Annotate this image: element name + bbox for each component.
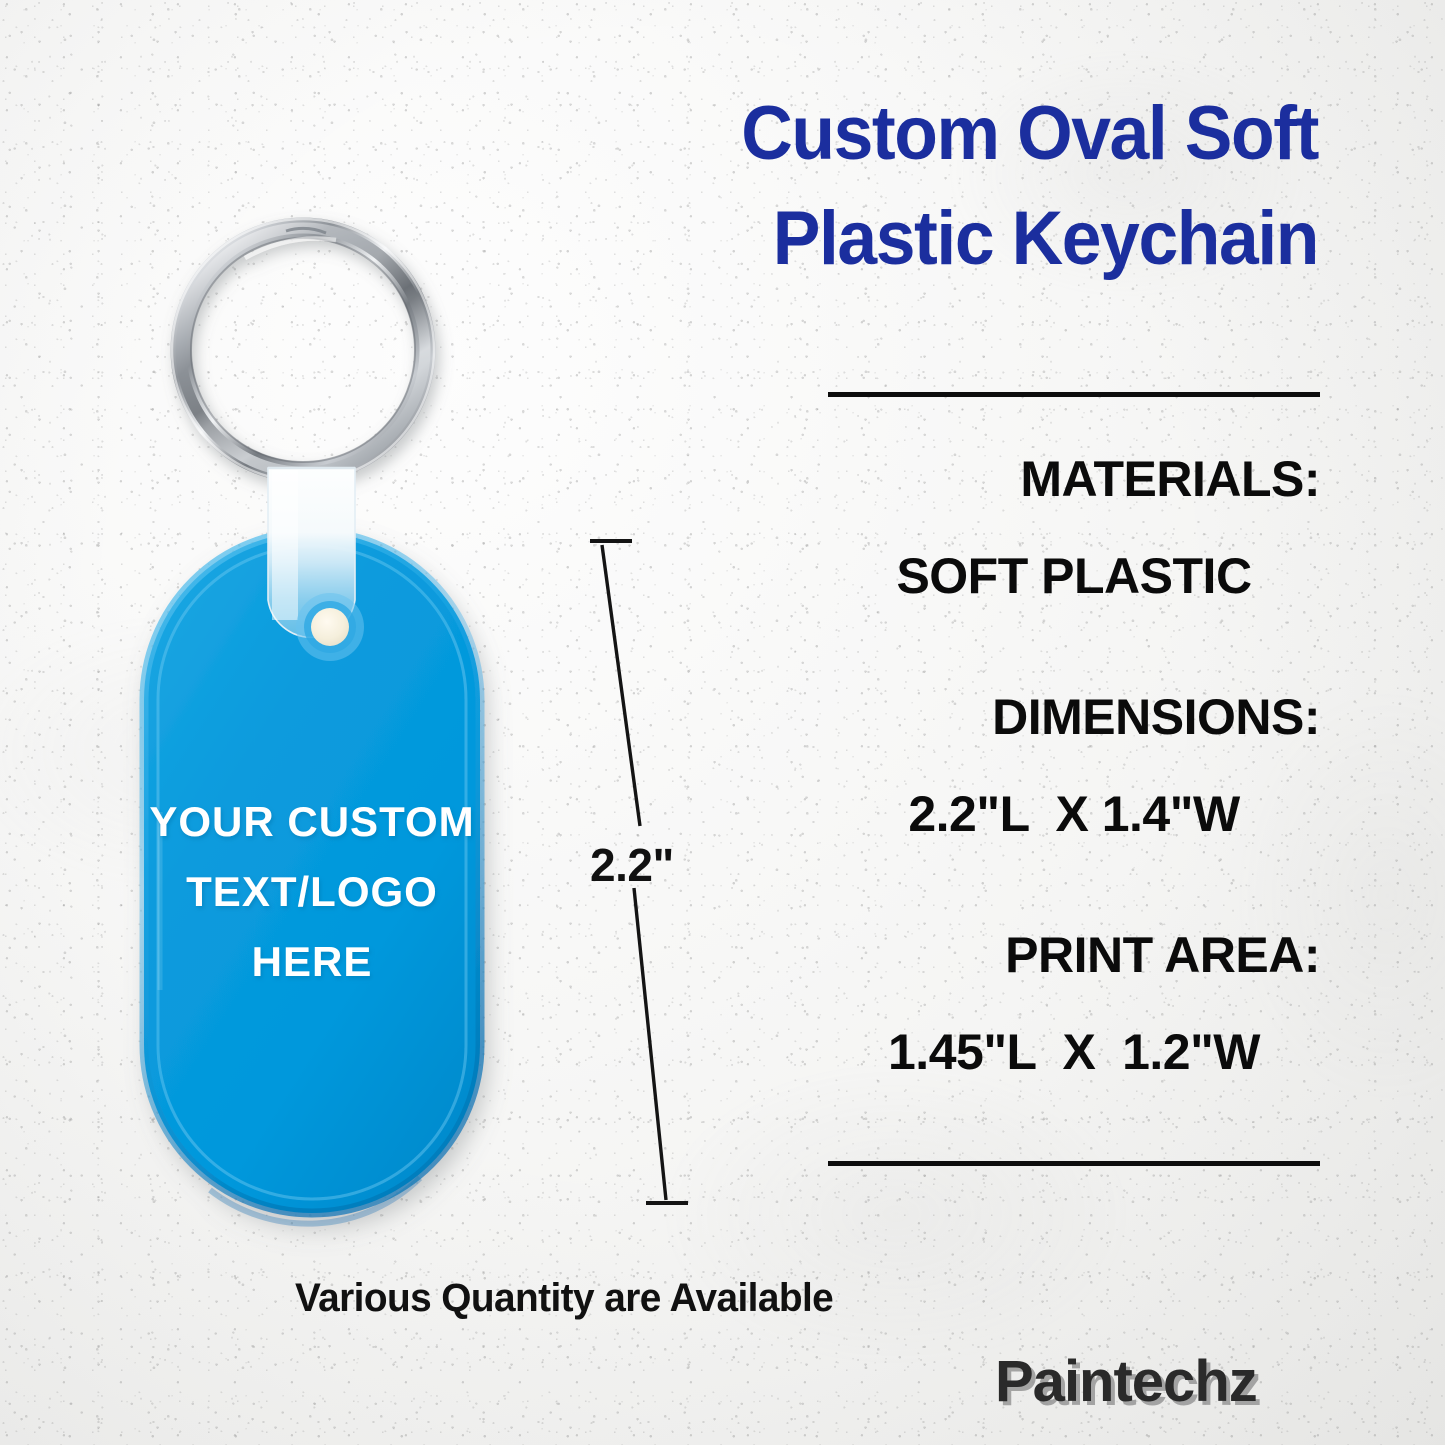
spec-divider-bottom	[828, 1161, 1320, 1166]
materials-value: SOFT PLASTIC	[828, 550, 1320, 603]
quantity-note: Various Quantity are Available	[295, 1276, 833, 1321]
svg-text:TEXT/LOGO: TEXT/LOGO	[186, 868, 438, 915]
spec-materials: MATERIALS: SOFT PLASTIC	[828, 453, 1320, 603]
grommet-hole	[296, 593, 364, 661]
specifications-panel: MATERIALS: SOFT PLASTIC DIMENSIONS: 2.2"…	[828, 392, 1320, 1166]
spec-dimensions: DIMENSIONS: 2.2"L X 1.4"W	[828, 691, 1320, 841]
product-infographic: Custom Oval Soft Plastic Keychain	[0, 0, 1445, 1445]
dimensions-label: DIMENSIONS:	[828, 691, 1320, 744]
materials-label: MATERIALS:	[828, 453, 1320, 506]
print-area-label: PRINT AREA:	[828, 929, 1320, 982]
svg-text:YOUR CUSTOM: YOUR CUSTOM	[149, 798, 474, 845]
dimension-label: 2.2"	[590, 838, 674, 892]
brand-logo: Paintechz	[995, 1348, 1257, 1415]
dimensions-value: 2.2"L X 1.4"W	[828, 788, 1320, 841]
svg-text:HERE: HERE	[252, 938, 373, 985]
spec-print-area: PRINT AREA: 1.45"L X 1.2"W	[828, 929, 1320, 1079]
print-area-value: 1.45"L X 1.2"W	[828, 1026, 1320, 1079]
key-ring	[172, 219, 434, 481]
